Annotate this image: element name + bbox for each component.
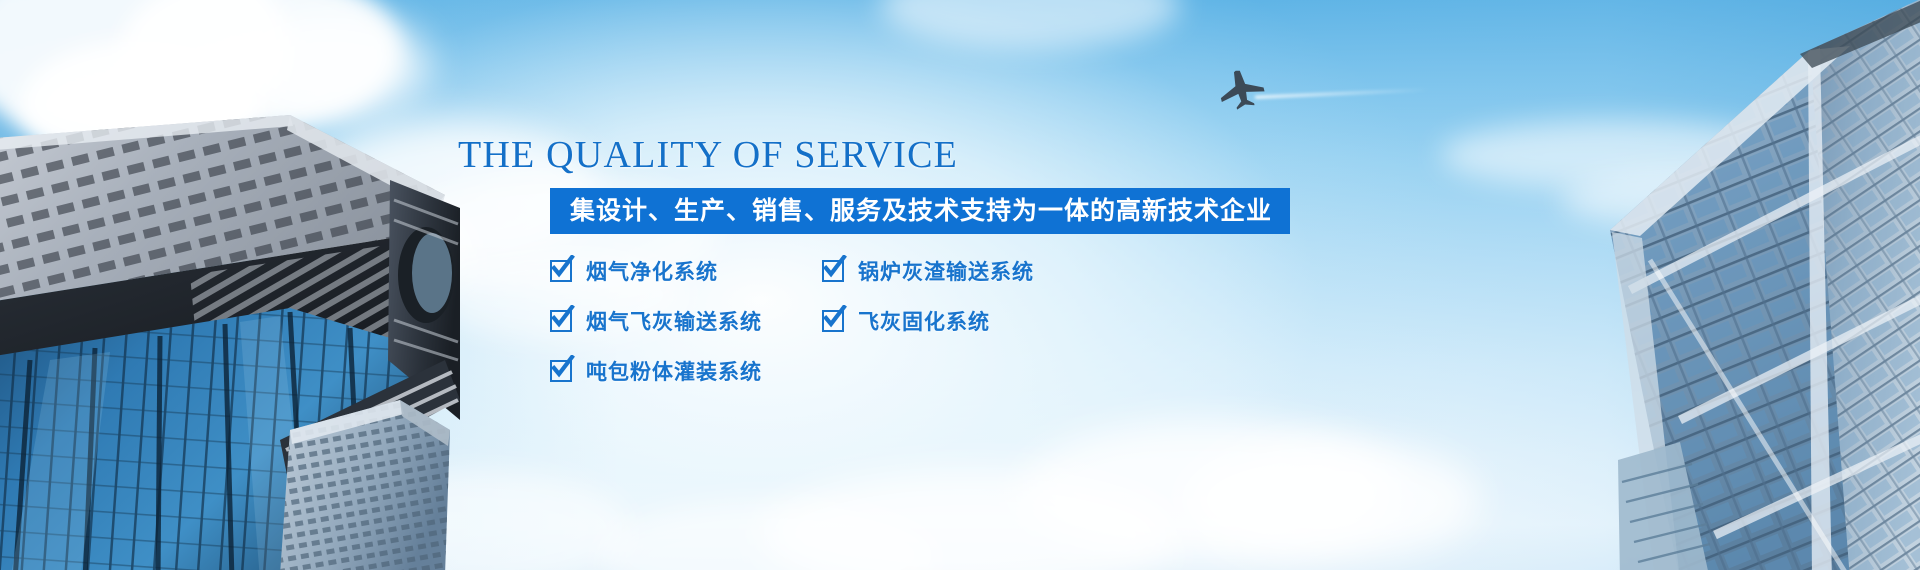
checkbox-checked-icon [550, 310, 572, 332]
distant-building [270, 390, 460, 570]
checklist-item-label: 飞灰固化系统 [858, 306, 990, 336]
checklist-item[interactable]: 锅炉灰渣输送系统 [822, 256, 1152, 286]
headline-english: THE QUALITY OF SERVICE [458, 136, 1458, 174]
checklist-row: 烟气飞灰输送系统 飞灰固化系统 [550, 306, 1190, 336]
hero-banner: THE QUALITY OF SERVICE 集设计、生产、销售、服务及技术支持… [0, 0, 1920, 570]
checklist-item-label: 吨包粉体灌装系统 [586, 356, 762, 386]
glass-skyscraper-right [1380, 0, 1920, 570]
checklist-row: 烟气净化系统 锅炉灰渣输送系统 [550, 256, 1190, 286]
checkbox-checked-icon [822, 260, 844, 282]
checklist-item[interactable]: 烟气飞灰输送系统 [550, 306, 822, 336]
checklist-row: 吨包粉体灌装系统 [550, 356, 1190, 386]
banner-content: THE QUALITY OF SERVICE 集设计、生产、销售、服务及技术支持… [458, 136, 1458, 174]
checklist-item[interactable]: 飞灰固化系统 [822, 306, 1152, 336]
checklist-item-label: 烟气飞灰输送系统 [586, 306, 762, 336]
checklist-item[interactable]: 吨包粉体灌装系统 [550, 356, 822, 386]
checkbox-checked-icon [550, 360, 572, 382]
checklist-item[interactable]: 烟气净化系统 [550, 256, 822, 286]
checklist-item-label: 锅炉灰渣输送系统 [858, 256, 1034, 286]
checkbox-checked-icon [822, 310, 844, 332]
tagline-bar: 集设计、生产、销售、服务及技术支持为一体的高新技术企业 [550, 188, 1290, 234]
checkbox-checked-icon [550, 260, 572, 282]
tagline-text: 集设计、生产、销售、服务及技术支持为一体的高新技术企业 [570, 188, 1272, 234]
service-checklist: 烟气净化系统 锅炉灰渣输送系统 烟气飞灰输送系统 [550, 256, 1190, 406]
checklist-item-label: 烟气净化系统 [586, 256, 718, 286]
